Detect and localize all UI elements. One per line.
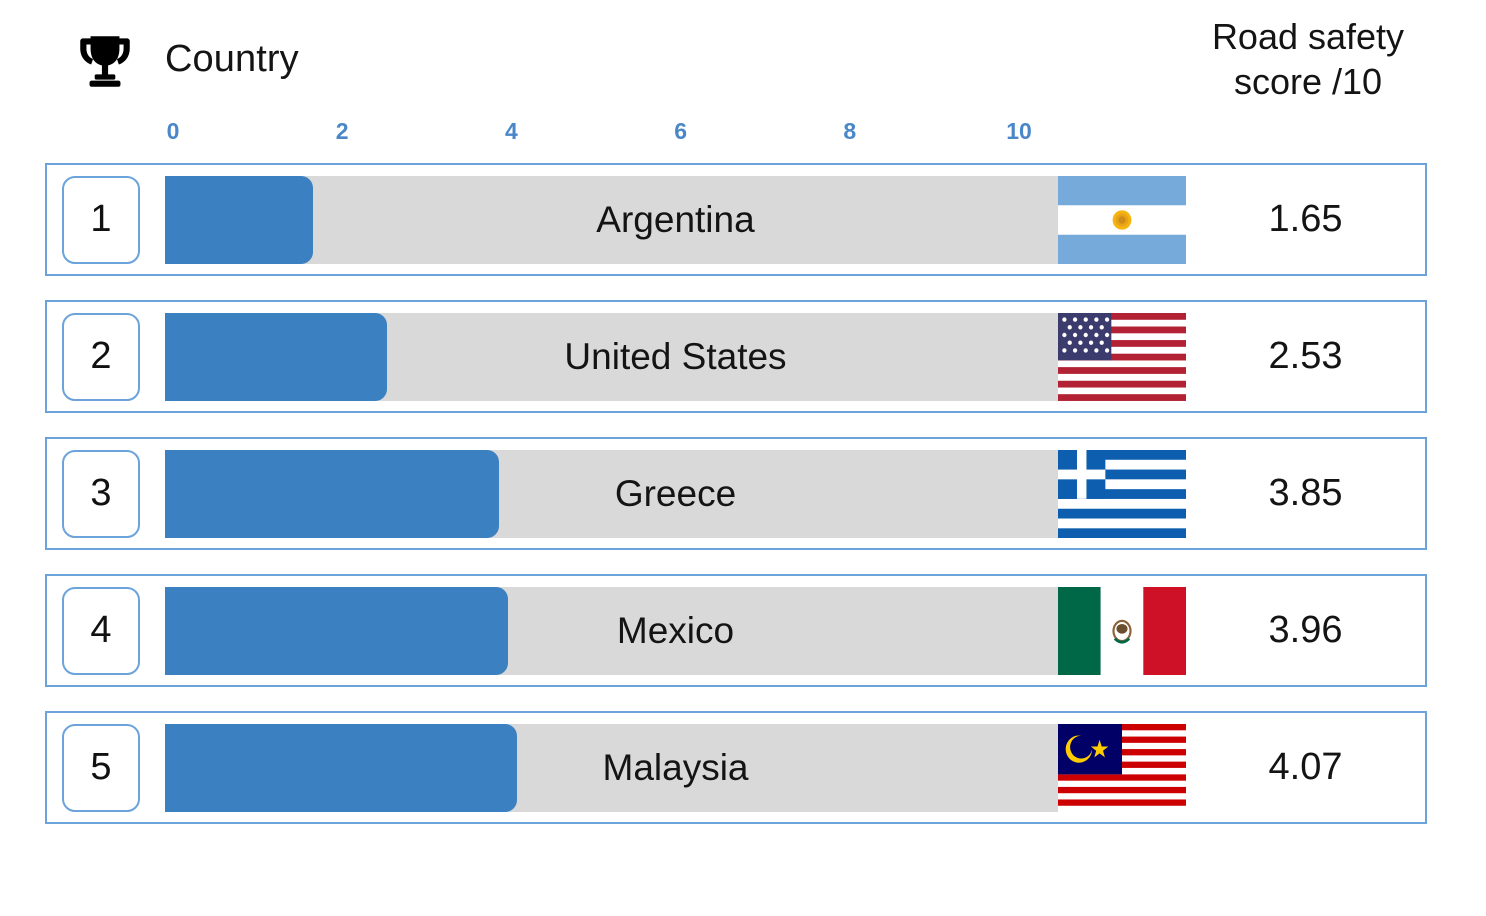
flag-malaysia-icon (1058, 724, 1186, 812)
bar-fill (165, 450, 499, 538)
bar-fill (165, 313, 387, 401)
axis-tick-4: 4 (505, 118, 518, 145)
rank-badge: 4 (62, 587, 140, 675)
country-label: Argentina (165, 176, 1186, 264)
column-header-country: Country (165, 38, 299, 81)
ranking-row[interactable]: 2United States (45, 300, 1427, 413)
axis-tick-0: 0 (167, 118, 180, 145)
trophy-icon (72, 28, 138, 94)
bar-fill (165, 724, 517, 812)
bar-track: Argentina (165, 176, 1186, 264)
axis-tick-2: 2 (336, 118, 349, 145)
score-value: 3.85 (1186, 450, 1425, 538)
score-value: 4.07 (1186, 724, 1425, 812)
ranking-row[interactable]: 3Greece 3.85 (45, 437, 1427, 550)
rank-badge: 3 (62, 450, 140, 538)
rank-badge: 5 (62, 724, 140, 812)
bar-track: United States (165, 313, 1186, 401)
chart-header: Country Road safety score /10 (0, 0, 1486, 118)
axis-tick-10: 10 (1006, 118, 1032, 145)
rank-badge: 1 (62, 176, 140, 264)
flag-argentina-icon (1058, 176, 1186, 264)
axis-tick-6: 6 (674, 118, 687, 145)
column-header-score: Road safety score /10 (1190, 14, 1426, 104)
value-axis: 0246810 (165, 118, 1186, 156)
rank-badge: 2 (62, 313, 140, 401)
axis-tick-8: 8 (843, 118, 856, 145)
ranking-row[interactable]: 1Argentina 1.65 (45, 163, 1427, 276)
score-value: 2.53 (1186, 313, 1425, 401)
ranking-row[interactable]: 4Mexico 3.96 (45, 574, 1427, 687)
bar-track: Greece (165, 450, 1186, 538)
ranking-row-list: 1Argentina 1.652United States (45, 163, 1427, 848)
bar-track: Malaysia (165, 724, 1186, 812)
bar-fill (165, 587, 508, 675)
score-value: 3.96 (1186, 587, 1425, 675)
road-safety-ranking-chart: Country Road safety score /10 0246810 1A… (0, 0, 1486, 916)
score-value: 1.65 (1186, 176, 1425, 264)
bar-track: Mexico (165, 587, 1186, 675)
flag-mexico-icon (1058, 587, 1186, 675)
flag-united-states-icon (1058, 313, 1186, 401)
ranking-row[interactable]: 5Malaysia 4.07 (45, 711, 1427, 824)
bar-fill (165, 176, 313, 264)
flag-greece-icon (1058, 450, 1186, 538)
